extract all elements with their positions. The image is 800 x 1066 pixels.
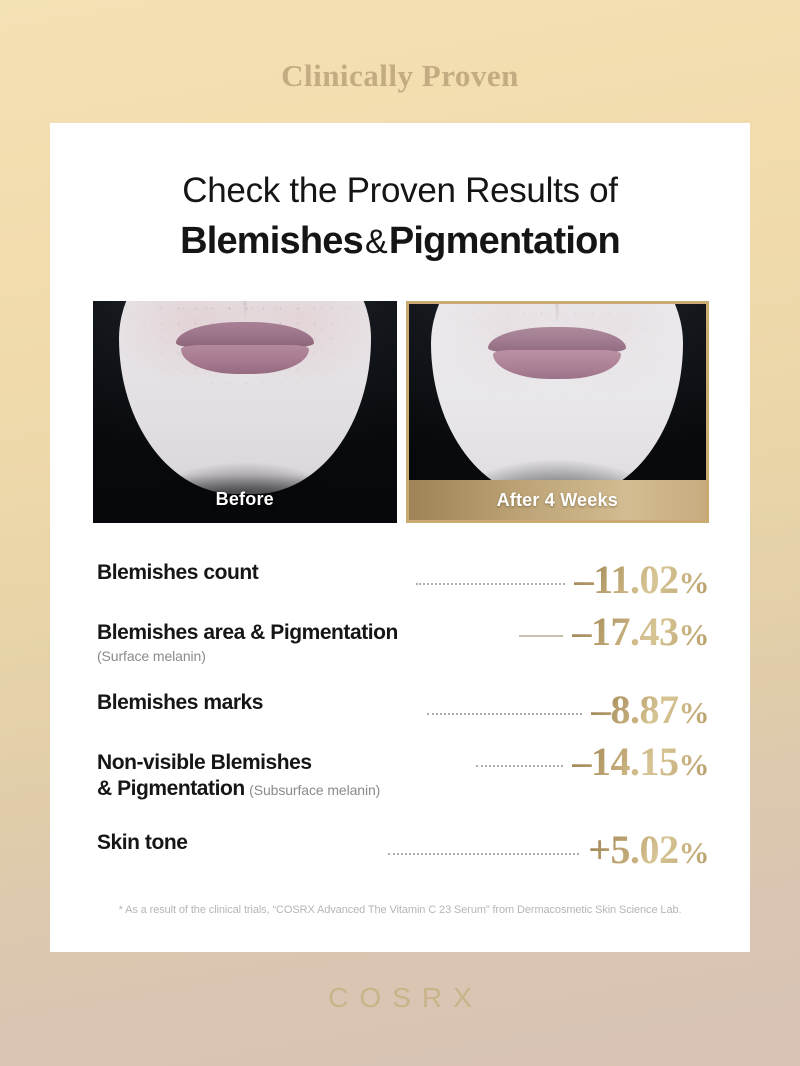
heading-ampersand: & (363, 223, 389, 261)
result-label-line-1: Non-visible Blemishes (97, 751, 312, 774)
content-card: Check the Proven Results of Blemishes&Pi… (50, 123, 750, 952)
leader-line (416, 583, 565, 585)
result-value: –11.02% (574, 560, 709, 600)
result-label-line-2: & Pigmentation (97, 777, 245, 800)
promo-page: Clinically Proven Check the Proven Resul… (0, 0, 800, 1066)
result-value-unit: % (679, 747, 710, 782)
banner-title: Clinically Proven (0, 58, 800, 94)
result-value-number: –17.43 (572, 609, 679, 654)
footnote: * As a result of the clinical trials, “C… (50, 904, 750, 916)
result-sublabel: (Subsurface melanin) (249, 782, 380, 798)
heading-line-2: Blemishes&Pigmentation (50, 217, 750, 266)
nose (509, 301, 605, 302)
brand-logo: COSRX (0, 982, 800, 1014)
result-label: Blemishes marks (97, 691, 263, 714)
photo-after: After 4 Weeks (406, 301, 710, 523)
photo-before: Before (93, 301, 397, 523)
result-value: +5.02% (588, 830, 709, 870)
leader-line (519, 635, 563, 637)
result-value-unit: % (679, 617, 710, 652)
result-value-number: –14.15 (572, 739, 679, 784)
result-sublabel: (Surface melanin) (97, 647, 510, 665)
leader-line (427, 713, 582, 715)
result-label-group: Blemishes area & Pigmentation (Surface m… (97, 610, 510, 665)
result-value: –8.87% (591, 690, 709, 730)
result-value: –14.15% (572, 742, 710, 782)
result-label-group: Skin tone (97, 820, 379, 856)
card-heading: Check the Proven Results of Blemishes&Pi… (50, 123, 750, 265)
result-value-unit: % (679, 835, 710, 870)
result-row: Blemishes count –11.02% (97, 550, 709, 610)
result-row: Blemishes area & Pigmentation (Surface m… (97, 610, 709, 680)
before-after-photos: Before After 4 Weeks (93, 301, 709, 523)
result-label: Skin tone (97, 831, 187, 854)
result-label: Blemishes area & Pigmentation (97, 621, 398, 644)
result-row: Blemishes marks –8.87% (97, 680, 709, 740)
result-value-number: +5.02 (588, 827, 678, 872)
photo-caption-after: After 4 Weeks (409, 480, 707, 520)
result-value-unit: % (679, 565, 710, 600)
result-value: –17.43% (572, 612, 710, 652)
result-value-unit: % (679, 695, 710, 730)
result-value-number: –8.87 (591, 687, 679, 732)
result-row: Skin tone +5.02% (97, 820, 709, 880)
result-row: Non-visible Blemishes & Pigmentation (Su… (97, 740, 709, 820)
heading-blemishes: Blemishes (180, 220, 363, 262)
result-label-group: Blemishes marks (97, 680, 418, 716)
result-label: Blemishes count (97, 561, 258, 584)
leader-line (476, 765, 563, 767)
photo-caption-before: Before (93, 475, 397, 523)
results-list: Blemishes count –11.02% Blemishes area &… (97, 550, 709, 880)
result-label-group: Non-visible Blemishes & Pigmentation (Su… (97, 740, 467, 802)
heading-line-1: Check the Proven Results of (50, 169, 750, 214)
result-label-group: Blemishes count (97, 550, 407, 586)
result-value-number: –11.02 (574, 557, 679, 602)
heading-pigmentation: Pigmentation (389, 220, 620, 262)
leader-line (388, 853, 579, 855)
